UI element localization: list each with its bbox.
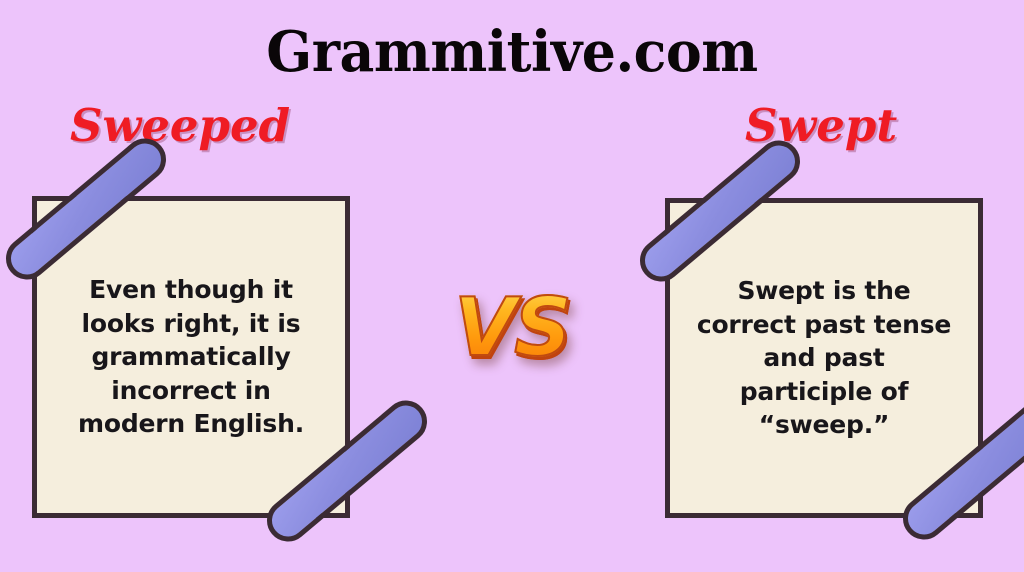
right-term-heading: Swept xyxy=(745,103,897,148)
right-card-body-text: Swept is the correct past tense and past… xyxy=(696,274,952,442)
infographic-canvas: Grammitive.com Sweeped Swept Even though… xyxy=(0,0,1024,572)
left-comparison-card: Even though it looks right, it is gramma… xyxy=(32,196,350,518)
versus-badge: VS xyxy=(441,272,583,384)
right-comparison-card: Swept is the correct past tense and past… xyxy=(665,198,983,518)
left-card-body-text: Even though it looks right, it is gramma… xyxy=(63,273,319,441)
left-term-heading: Sweeped xyxy=(70,103,290,148)
site-title: Grammitive.com xyxy=(20,24,1003,80)
versus-label: VS xyxy=(454,288,570,368)
